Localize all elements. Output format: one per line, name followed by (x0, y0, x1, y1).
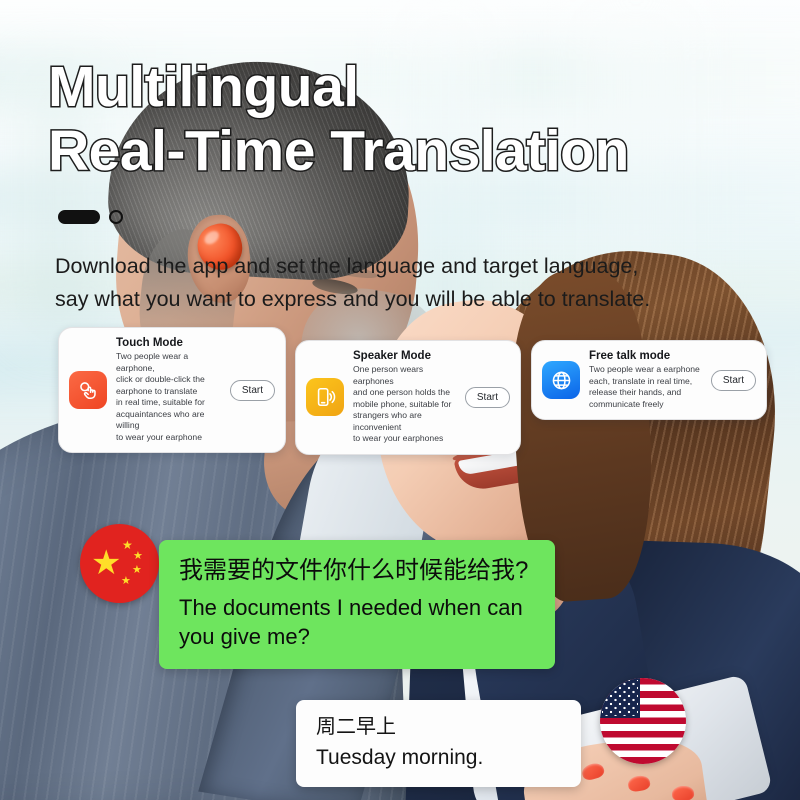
page-subtitle-line-1: Download the app and set the language an… (55, 250, 775, 283)
carousel-pager[interactable] (58, 210, 123, 224)
mode-card-title: Speaker Mode (353, 350, 456, 362)
promo-banner: Multilingual Real-Time Translation Downl… (0, 0, 800, 800)
chat-bubble-reply: 周二早上 Tuesday morning. (296, 700, 581, 787)
mode-card-body: Touch Mode Two people wear a earphone, c… (116, 337, 221, 443)
flag-star-small: ★ (122, 539, 133, 551)
start-button-speaker[interactable]: Start (465, 387, 510, 408)
globe-icon (542, 361, 580, 399)
mode-card-description: Two people wear a earphone, click or dou… (116, 351, 221, 443)
phone-sound-icon (306, 378, 344, 416)
start-button-touch[interactable]: Start (230, 380, 275, 401)
mode-card-body: Speaker Mode One person wears earphones … (353, 350, 456, 445)
pager-dot-inactive[interactable] (109, 210, 123, 224)
mode-card-free-talk[interactable]: Free talk mode Two people wear a earphon… (531, 340, 767, 420)
mode-card-title: Touch Mode (116, 337, 221, 349)
mode-card-speaker[interactable]: Speaker Mode One person wears earphones … (295, 340, 521, 455)
flag-canton (600, 678, 640, 718)
fingernail (672, 785, 695, 800)
mode-card-title: Free talk mode (589, 350, 702, 362)
flag-star-small: ★ (121, 576, 131, 587)
touch-gesture-icon (69, 371, 107, 409)
mode-card-touch[interactable]: Touch Mode Two people wear a earphone, c… (58, 327, 286, 453)
page-title: Multilingual Real-Time Translation (48, 56, 748, 184)
mode-card-body: Free talk mode Two people wear a earphon… (589, 350, 702, 410)
mode-card-description: Two people wear a earphone each, transla… (589, 364, 702, 410)
chat-bubble-source: 我需要的文件你什么时候能给我? The documents I needed w… (159, 540, 555, 669)
flag-star-small: ★ (132, 565, 142, 576)
china-flag-icon: ★ ★ ★ ★ ★ (80, 524, 159, 603)
page-subtitle: Download the app and set the language an… (55, 250, 775, 317)
usa-flag-icon (600, 678, 686, 764)
page-title-line-1: Multilingual (48, 56, 748, 120)
chat-source-text: 周二早上 (316, 714, 563, 740)
flag-star-large: ★ (91, 546, 121, 580)
page-subtitle-line-2: say what you want to express and you wil… (55, 283, 775, 316)
flag-star-small: ★ (133, 551, 143, 562)
mode-card-description: One person wears earphones and one perso… (353, 364, 456, 445)
start-button-free-talk[interactable]: Start (711, 370, 756, 391)
chat-translated-text: Tuesday morning. (316, 744, 563, 771)
chat-translated-text: The documents I needed when can you give… (179, 594, 537, 651)
page-title-line-2: Real-Time Translation (48, 120, 748, 184)
pager-dot-active[interactable] (58, 210, 100, 224)
chat-source-text: 我需要的文件你什么时候能给我? (179, 556, 537, 586)
